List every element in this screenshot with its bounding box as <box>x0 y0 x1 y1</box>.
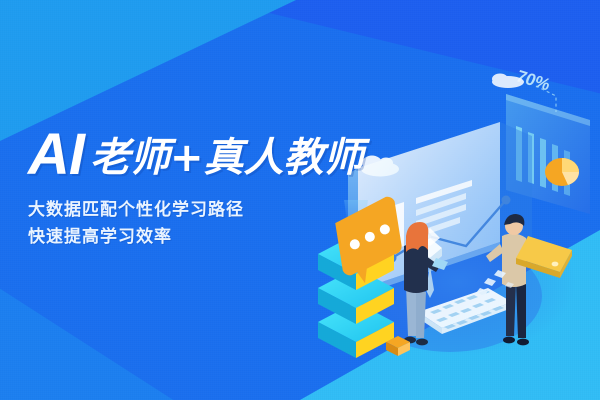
promo-banner: AI 老师+真人教师 大数据匹配个性化学习路径 快速提高学习效率 <box>0 0 600 400</box>
copy-block: AI 老师+真人教师 大数据匹配个性化学习路径 快速提高学习效率 <box>28 128 364 250</box>
headline-latin: AI <box>28 128 84 181</box>
subcopy: 大数据匹配个性化学习路径 快速提高学习效率 <box>28 197 364 250</box>
pie-chart <box>545 158 579 186</box>
subcopy-line-2: 快速提高学习效率 <box>28 224 364 250</box>
headline: AI 老师+真人教师 <box>28 128 364 181</box>
subcopy-line-1: 大数据匹配个性化学习路径 <box>28 197 364 223</box>
headline-chinese: 老师+真人教师 <box>90 138 364 181</box>
